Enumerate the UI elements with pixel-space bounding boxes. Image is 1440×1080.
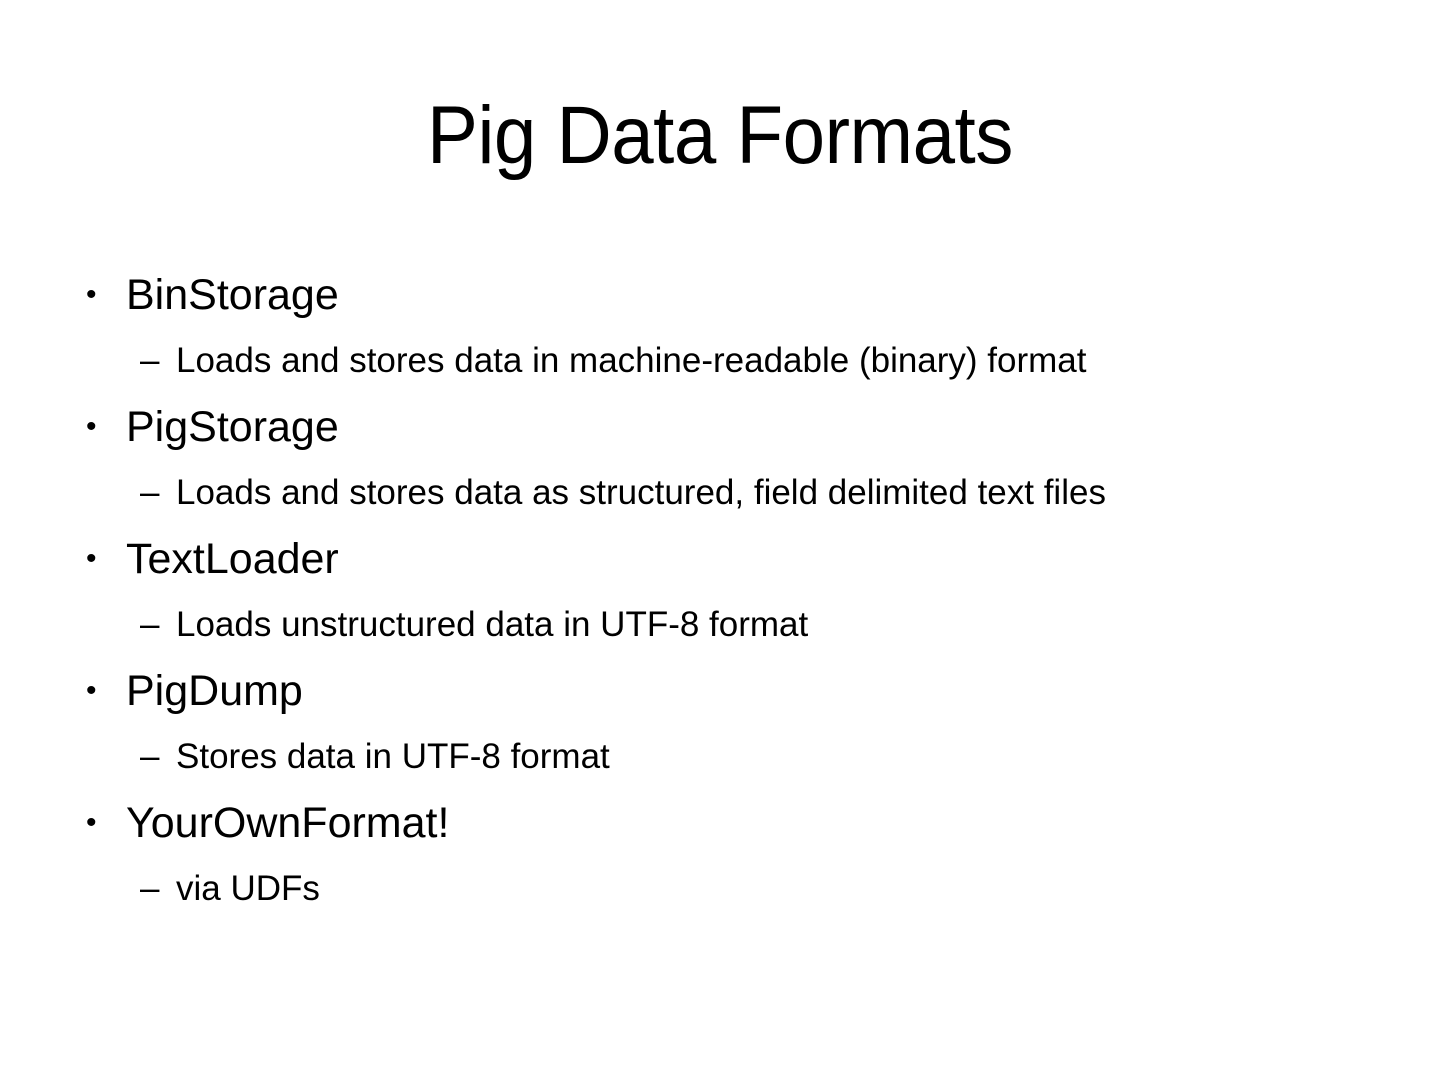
list-item-level2: – via UDFs: [78, 856, 1398, 922]
bullet-group: • TextLoader – Loads unstructured data i…: [78, 526, 1398, 658]
list-item-level1: • PigDump: [78, 658, 1398, 724]
bullet-dot-icon: •: [86, 658, 97, 724]
page-title: Pig Data Formats: [50, 88, 1389, 184]
list-item-level1: • TextLoader: [78, 526, 1398, 592]
list-item-sublabel: Loads and stores data in machine-readabl…: [176, 328, 1087, 394]
list-item-label: PigStorage: [126, 394, 339, 460]
bullet-group: • BinStorage – Loads and stores data in …: [78, 262, 1398, 394]
list-item-level2: – Stores data in UTF-8 format: [78, 724, 1398, 790]
list-item-label: PigDump: [126, 658, 303, 724]
bullet-dot-icon: •: [86, 262, 97, 328]
list-item-sublabel: Stores data in UTF-8 format: [176, 724, 610, 790]
bullet-group: • YourOwnFormat! – via UDFs: [78, 790, 1398, 922]
bullet-dot-icon: •: [86, 790, 97, 856]
bullet-dash-icon: –: [140, 328, 159, 394]
bullet-dot-icon: •: [86, 394, 97, 460]
list-item-label: BinStorage: [126, 262, 339, 328]
bullet-dash-icon: –: [140, 460, 159, 526]
list-item-level2: – Loads and stores data in machine-reada…: [78, 328, 1398, 394]
list-item-sublabel: Loads unstructured data in UTF-8 format: [176, 592, 808, 658]
list-item-level2: – Loads and stores data as structured, f…: [78, 460, 1398, 526]
bullet-dot-icon: •: [86, 526, 97, 592]
bullet-list: • BinStorage – Loads and stores data in …: [78, 262, 1398, 922]
list-item-level2: – Loads unstructured data in UTF-8 forma…: [78, 592, 1398, 658]
bullet-dash-icon: –: [140, 856, 159, 922]
list-item-sublabel: Loads and stores data as structured, fie…: [176, 460, 1106, 526]
bullet-group: • PigDump – Stores data in UTF-8 format: [78, 658, 1398, 790]
list-item-level1: • YourOwnFormat!: [78, 790, 1398, 856]
bullet-dash-icon: –: [140, 592, 159, 658]
list-item-sublabel: via UDFs: [176, 856, 320, 922]
bullet-dash-icon: –: [140, 724, 159, 790]
list-item-level1: • PigStorage: [78, 394, 1398, 460]
list-item-level1: • BinStorage: [78, 262, 1398, 328]
slide: Pig Data Formats • BinStorage – Loads an…: [0, 0, 1440, 1080]
bullet-group: • PigStorage – Loads and stores data as …: [78, 394, 1398, 526]
list-item-label: YourOwnFormat!: [126, 790, 449, 856]
list-item-label: TextLoader: [126, 526, 339, 592]
